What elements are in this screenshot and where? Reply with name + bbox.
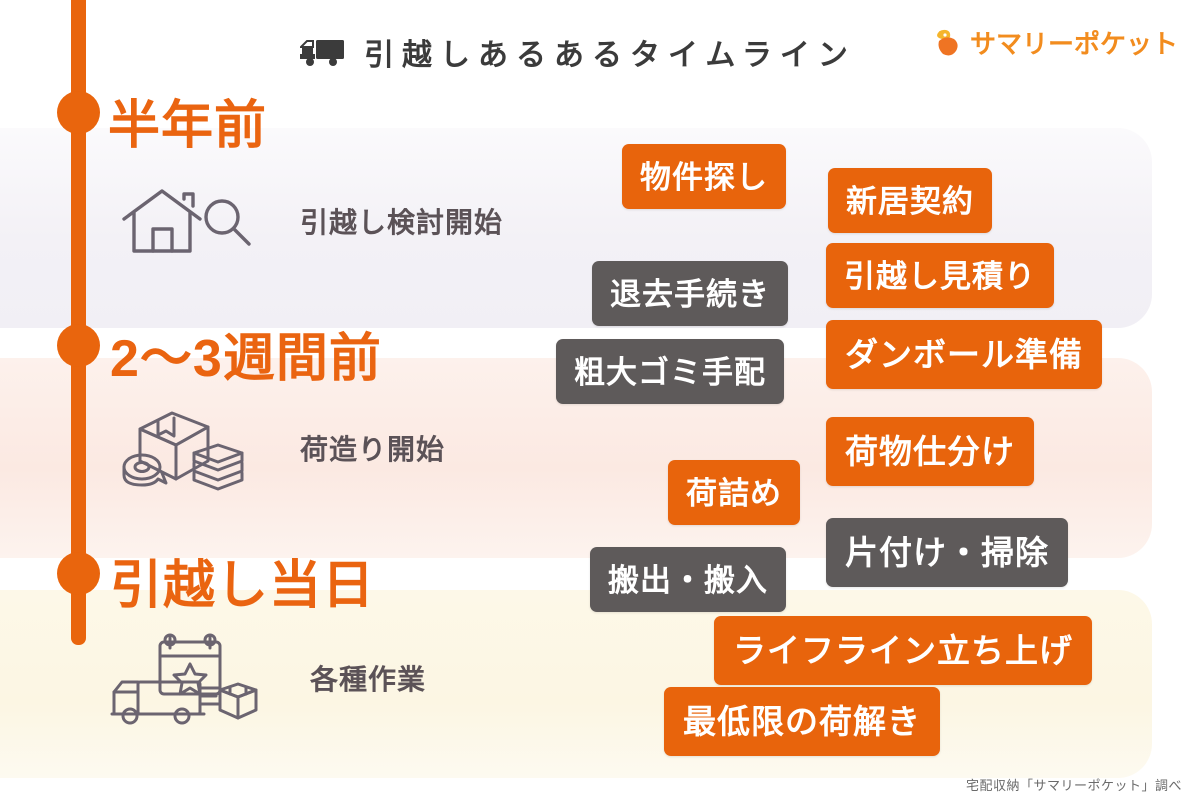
timeline-dot-moving-day	[57, 552, 100, 595]
stage-row-two-three-weeks-before: 荷造り開始	[118, 405, 445, 491]
house-search-icon	[118, 185, 258, 257]
stage-activity-label-half-year-before: 引越し検討開始	[300, 201, 503, 241]
summary-pocket-bird-icon	[933, 27, 963, 59]
footer-source-note: 宅配収納「サマリーポケット」調べ	[966, 775, 1182, 794]
stage-title-two-three-weeks-before: 2〜3週間前	[110, 316, 382, 391]
task-tag-taikyo-tetsuzuki[interactable]: 退去手続き	[592, 261, 788, 326]
truck-calendar-boxes-icon	[108, 628, 268, 728]
task-tag-hanshutsu-hannyu[interactable]: 搬出・搬入	[590, 547, 786, 612]
task-tag-nimotsu-shiwake[interactable]: 荷物仕分け	[826, 417, 1034, 486]
brand-logo[interactable]: サマリーポケット	[933, 24, 1178, 61]
stage-title-half-year-before: 半年前	[108, 83, 267, 158]
stage-row-moving-day: 各種作業	[108, 628, 426, 728]
task-tag-katazuke-soji[interactable]: 片付け・掃除	[826, 518, 1068, 587]
task-tag-lifeline-tachiage[interactable]: ライフライン立ち上げ	[714, 616, 1092, 685]
task-tag-danboru-junbi[interactable]: ダンボール準備	[826, 320, 1102, 389]
timeline-dot-half-year-before	[57, 91, 100, 134]
task-tag-nizume[interactable]: 荷詰め	[668, 460, 800, 525]
infographic-root: 引越しあるあるタイムライン サマリーポケット 半年前 2〜3週間前 引越し当日	[0, 0, 1200, 802]
brand-logo-text: サマリーポケット	[970, 24, 1178, 61]
boxes-tape-icon	[118, 405, 258, 491]
task-tag-hikkoshi-mitsumori[interactable]: 引越し見積り	[826, 243, 1054, 308]
stage-title-moving-day: 引越し当日	[110, 543, 375, 618]
truck-icon	[300, 37, 346, 67]
stage-row-half-year-before: 引越し検討開始	[118, 185, 503, 257]
task-tag-bukken-sagashi[interactable]: 物件探し	[622, 144, 786, 209]
stage-activity-label-moving-day: 各種作業	[310, 658, 426, 698]
task-tag-sodai-gomi-tehai[interactable]: 粗大ゴミ手配	[556, 339, 784, 404]
page-title-text: 引越しあるあるタイムライン	[364, 30, 856, 74]
stage-activity-label-two-three-weeks-before: 荷造り開始	[300, 428, 445, 468]
timeline-dot-two-three-weeks-before	[57, 324, 100, 367]
task-tag-shinkyo-keiyaku[interactable]: 新居契約	[828, 168, 992, 233]
header: 引越しあるあるタイムライン サマリーポケット	[0, 0, 1200, 90]
task-tag-saiteigen-nihodoki[interactable]: 最低限の荷解き	[664, 687, 940, 756]
page-title: 引越しあるあるタイムライン	[300, 30, 856, 74]
